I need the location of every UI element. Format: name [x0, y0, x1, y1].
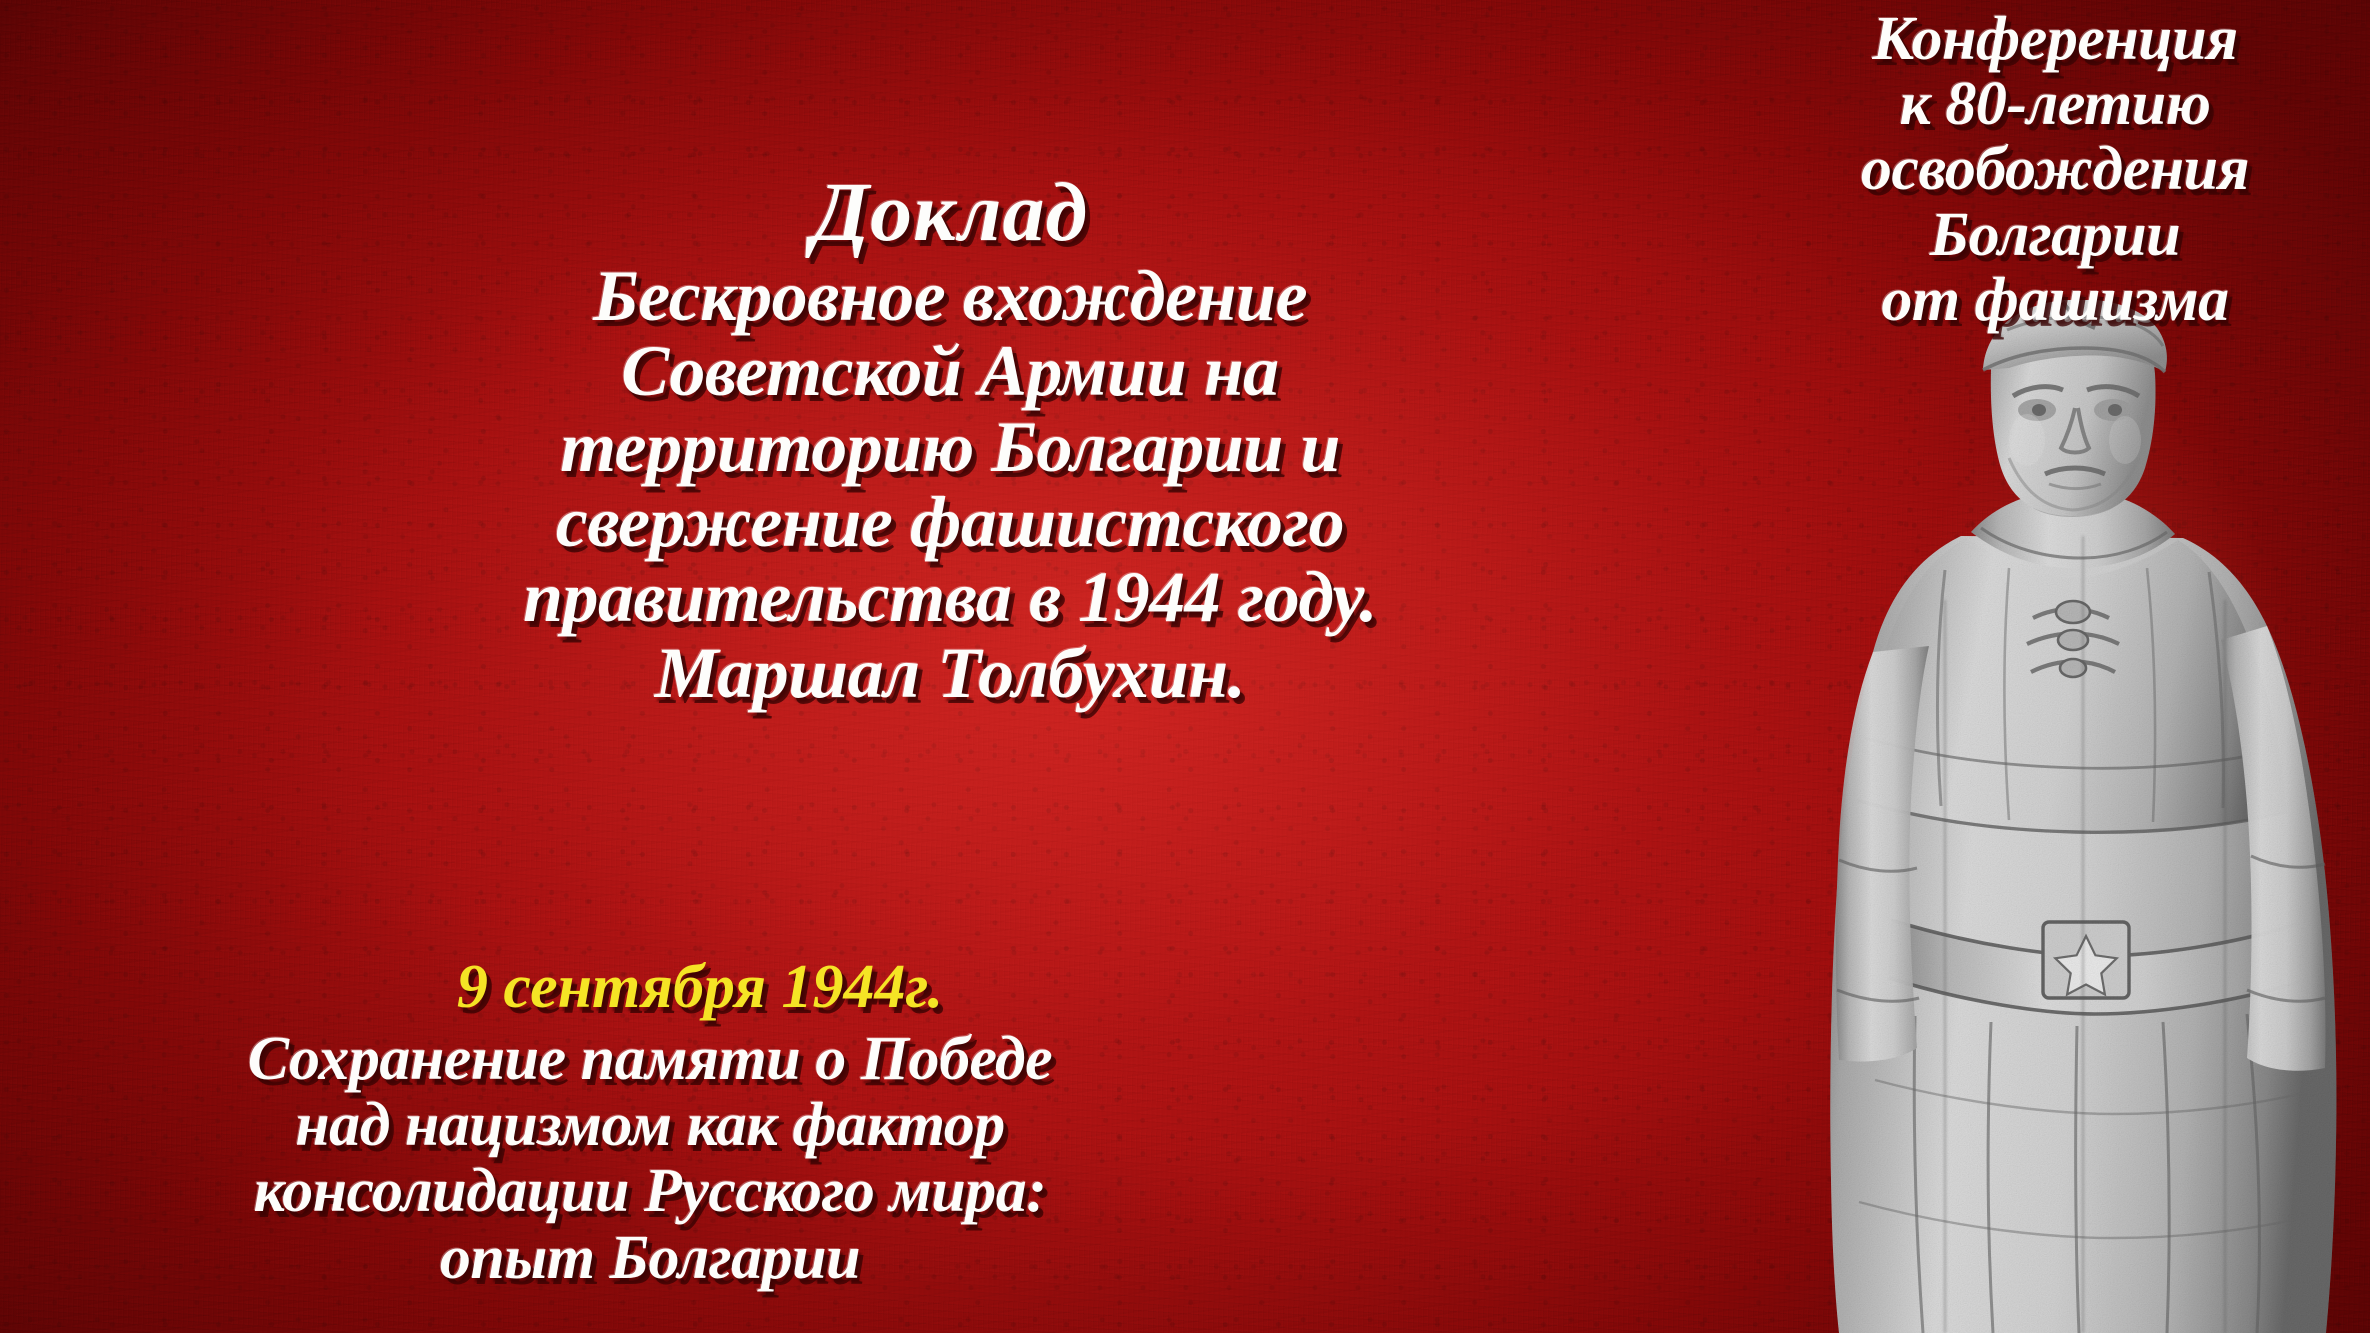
report-title-line-3: территорию Болгарии и	[140, 411, 1760, 484]
conference-title-block: Конференция к 80-летию освобождения Болг…	[1740, 8, 2370, 334]
report-title-line-6: Маршал Толбухин.	[140, 637, 1760, 710]
event-date: 9 сентября 1944г.	[150, 952, 1250, 1023]
conference-theme-block: Сохранение памяти о Победе над нацизмом …	[0, 1028, 1300, 1293]
theme-line-3: консолидации Русского мира:	[0, 1160, 1300, 1223]
conference-line-1: Конференция	[1740, 8, 2370, 71]
report-title-line-4: свержение фашистского	[140, 486, 1760, 559]
theme-line-1: Сохранение памяти о Победе	[0, 1028, 1300, 1091]
theme-line-2: над нацизмом как фактор	[0, 1094, 1300, 1157]
poster-canvas: Конференция к 80-летию освобождения Болг…	[0, 0, 2370, 1333]
report-title-line-1: Бескровное вхождение	[140, 260, 1760, 333]
report-title-line-2: Советской Армии на	[140, 335, 1760, 408]
conference-line-2: к 80-летию	[1740, 73, 2370, 136]
theme-line-4: опыт Болгарии	[0, 1227, 1300, 1290]
report-title-block: Доклад Бескровное вхождение Советской Ар…	[140, 170, 1760, 712]
conference-line-3: освобождения	[1740, 138, 2370, 201]
conference-line-4: Болгарии	[1740, 204, 2370, 267]
soviet-soldier-statue-image	[1795, 300, 2370, 1333]
conference-line-5: от фашизма	[1740, 269, 2370, 332]
report-heading: Доклад	[140, 170, 1760, 256]
report-title-line-5: правительства в 1944 году.	[140, 561, 1760, 634]
